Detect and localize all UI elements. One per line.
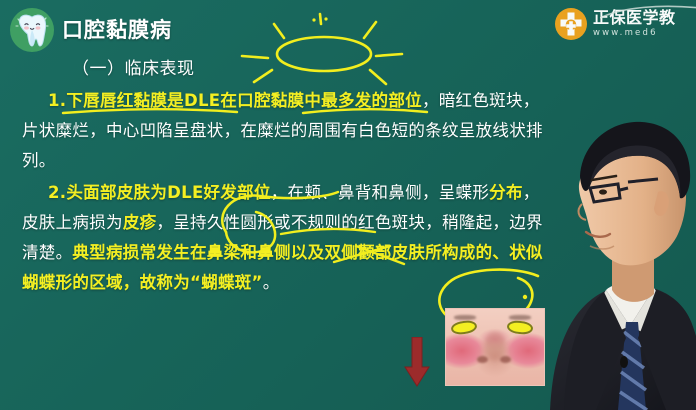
paragraph-1: 1.下唇唇红黏膜是DLE在口腔黏膜中最多发的部位，暗红色斑块，片状糜烂，中心凹陷… [22, 86, 550, 176]
paragraph-2-number: 2. [48, 183, 66, 202]
brand-swoosh-icon [600, 5, 696, 21]
paragraph-2-highlight-tail: 典型病损常发生在鼻梁和鼻侧以及双侧颧部皮肤所构成的、状似蝴蝶形的区域，故称为 [22, 243, 543, 292]
red-down-arrow-icon [404, 337, 430, 387]
malar-rash-clinical-photo [445, 308, 545, 386]
paragraph-1-highlight-key: 最多发的部位 [321, 91, 422, 110]
slide-subtitle: （一）临床表现 [72, 54, 195, 79]
paragraph-2-highlight-fenbu: 分布 [489, 183, 523, 202]
photo-nostril-right [500, 356, 511, 363]
paragraph-1-number: 1. [48, 91, 66, 110]
paragraph-2-end: 。 [263, 273, 280, 292]
paragraph-2-quoted-term: “蝴蝶斑” [190, 273, 263, 292]
lecturer-figure [546, 80, 696, 410]
paragraph-1-highlight-lead: 下唇唇红黏膜是DLE在口腔黏膜中 [66, 91, 321, 110]
photo-brow-left [454, 315, 476, 320]
paragraph-2: 2.头面部皮肤为DLE好发部位，在颊、鼻背和鼻侧，呈蝶形分布，皮肤上病损为皮疹，… [22, 178, 550, 298]
brand-watermark: 正保医学教 www.med6 [554, 2, 696, 46]
slide-title: 口腔黏膜病 [62, 14, 172, 44]
lecture-slide: 口腔黏膜病 （一）临床表现 1.下唇唇红黏膜是DLE在口腔黏膜中最多发的部位，暗… [0, 0, 696, 410]
brand-url: www.med6 [593, 29, 676, 38]
sun-ellipse-doodle-icon [236, 10, 406, 90]
paragraph-2-highlight-pizhen: 皮疹 [123, 213, 157, 232]
paragraph-2-mid: ，在颊、鼻背和鼻侧，呈蝶形 [271, 183, 489, 202]
paragraph-2-highlight-lead: 头面部皮肤为DLE好发部位 [66, 183, 270, 202]
medical-cross-badge-icon [554, 7, 588, 41]
photo-brow-right [509, 315, 531, 320]
tooth-mascot-icon [6, 4, 58, 56]
